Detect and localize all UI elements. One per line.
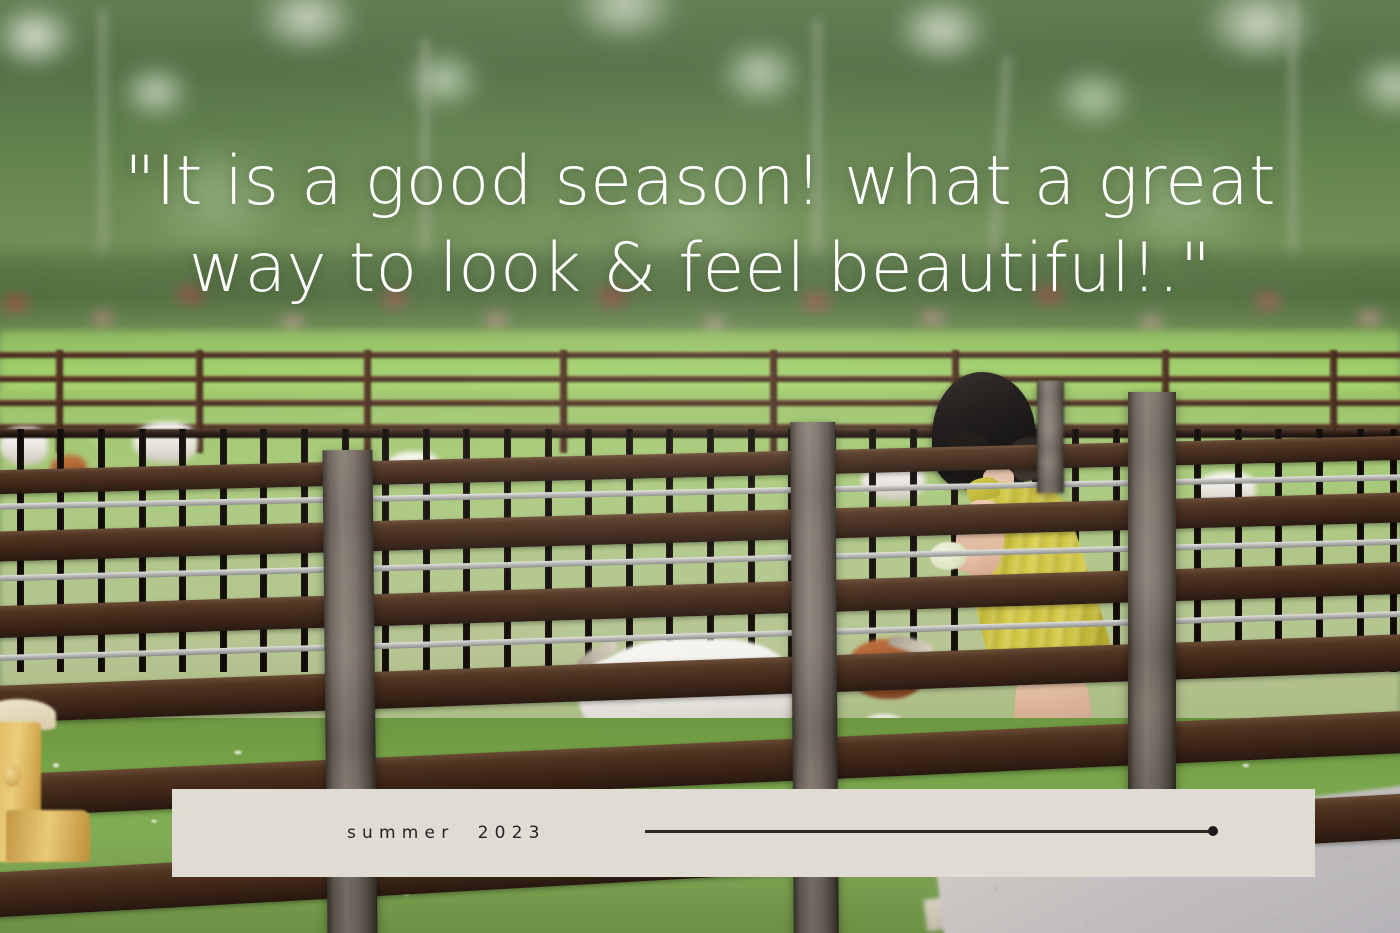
quote-text: "It is a good season! what a great way t… [0, 138, 1400, 312]
fence-plank [0, 434, 1400, 495]
caption-label: summer 2023 [347, 823, 546, 843]
fence-plank [0, 632, 1400, 724]
fence-post-wood [1128, 392, 1176, 831]
poster: "It is a good season! what a great way t… [0, 0, 1400, 933]
caption-rule-line [645, 830, 1215, 833]
caption-rule-end-dot [1208, 826, 1218, 836]
fence-post-wood-distant [1037, 381, 1064, 493]
caption-bar: summer 2023 [172, 789, 1315, 877]
feeder-arm [6, 810, 90, 862]
